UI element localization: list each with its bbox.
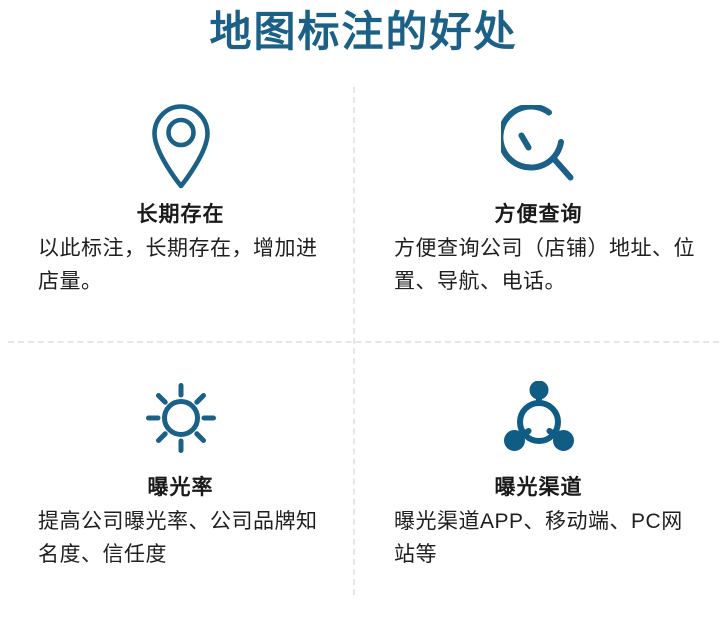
card-body: 方便查询公司（店铺）地址、位置、导航、电话。 [366,232,711,298]
infographic-root: 地图标注的好处 长期存在 以此标注，长期存在，增加进店量。 方便查询 方便查询公 [0,0,727,625]
card-title: 方便查询 [366,201,711,229]
card-body: 以此标注，长期存在，增加进店量。 [8,232,353,298]
card-body: 提高公司曝光率、公司品牌知名度、信任度 [8,505,353,571]
benefit-card-4: 曝光渠道 曝光渠道APP、移动端、PC网站等 [366,368,711,571]
map-pin-icon [8,95,353,195]
card-title: 曝光率 [8,474,353,502]
magnifier-search-icon [366,95,711,195]
horizontal-divider [8,341,719,343]
benefit-card-3: 曝光率 提高公司曝光率、公司品牌知名度、信任度 [8,368,353,571]
network-share-icon [366,368,711,468]
card-title: 长期存在 [8,201,353,229]
page-title: 地图标注的好处 [0,4,727,60]
benefit-card-1: 长期存在 以此标注，长期存在，增加进店量。 [8,95,353,298]
card-title: 曝光渠道 [366,474,711,502]
card-body: 曝光渠道APP、移动端、PC网站等 [366,505,711,571]
benefit-card-2: 方便查询 方便查询公司（店铺）地址、位置、导航、电话。 [366,95,711,298]
sun-exposure-icon [8,368,353,468]
